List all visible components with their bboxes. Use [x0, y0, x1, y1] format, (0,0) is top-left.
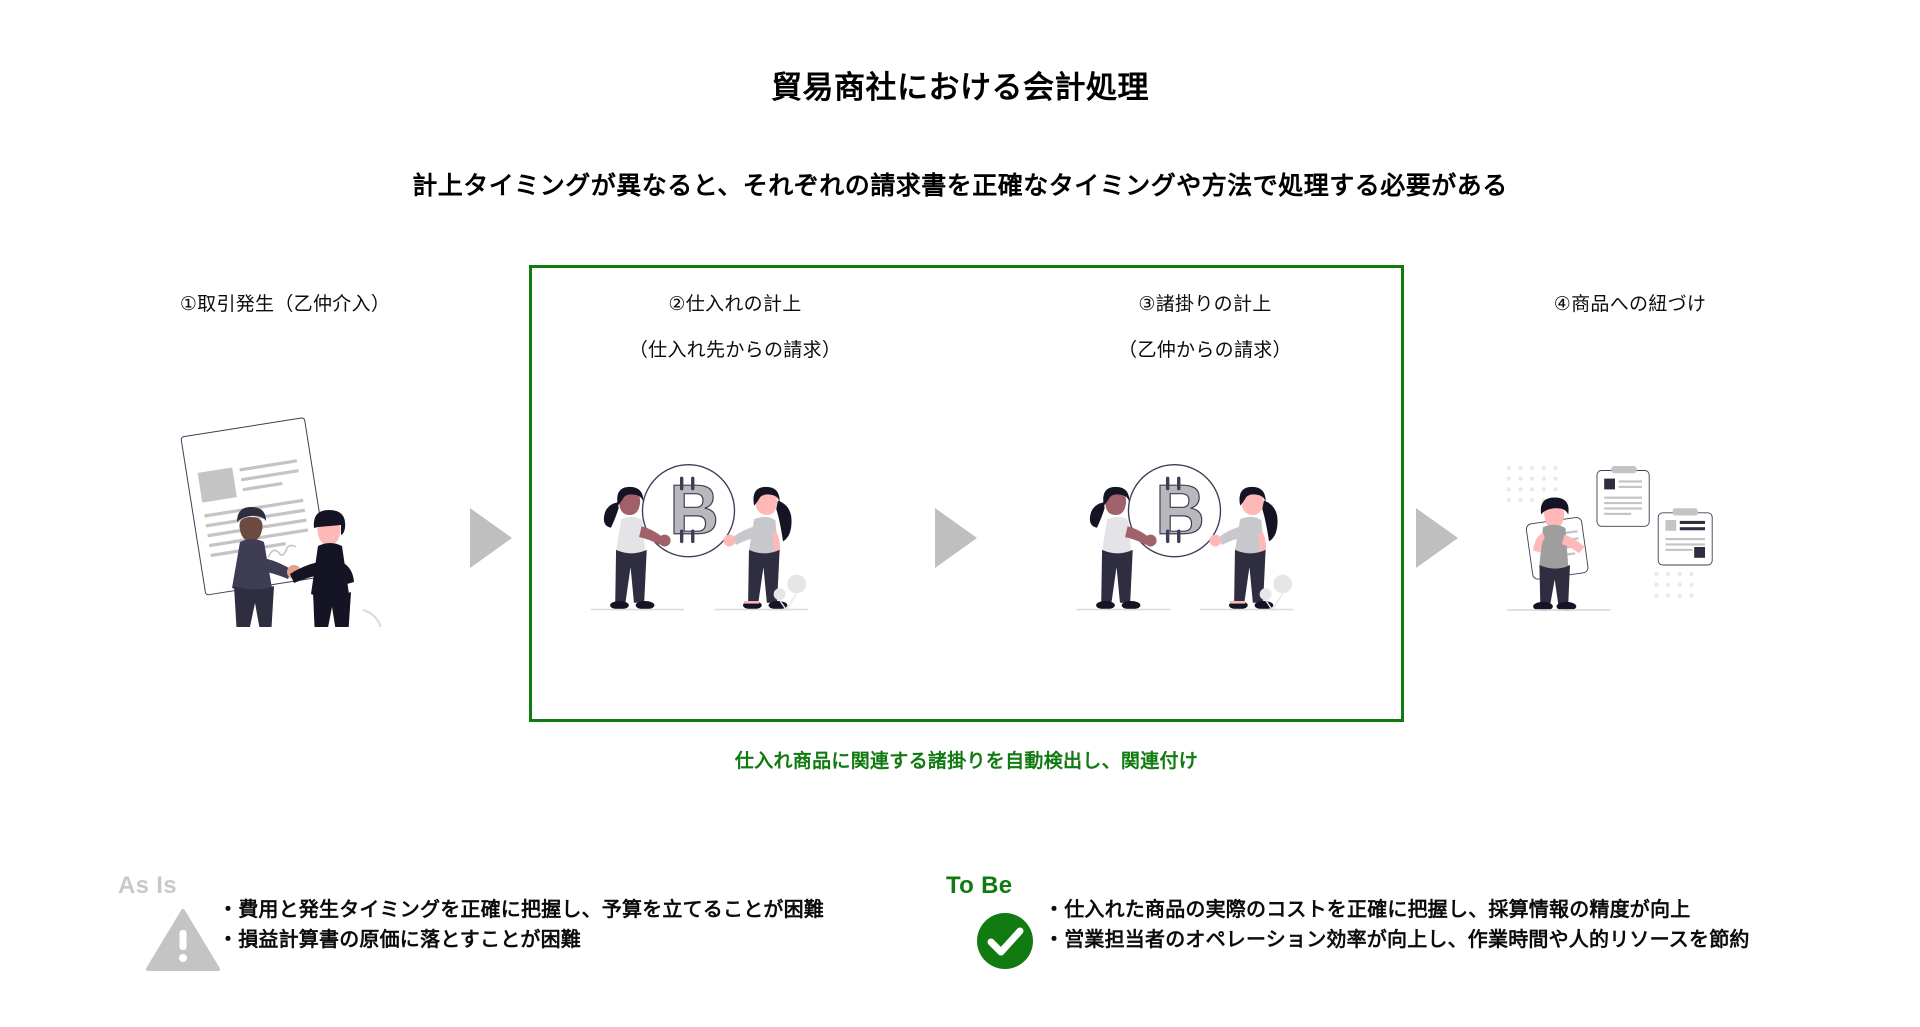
arrow-right-icon-2: [935, 508, 977, 568]
flow-step-3-sublabel: （乙仲からの請求）: [1035, 335, 1375, 362]
document-organizing-illustration: [1498, 448, 1723, 633]
flow-step-2: ②仕入れの計上 （仕入れ先からの請求）: [565, 295, 905, 362]
contract-handshake-illustration: [168, 412, 398, 632]
to-be-bullet-list: ・仕入れた商品の実際のコストを正確に把握し、採算情報の精度が向上 ・営業担当者の…: [1044, 896, 1750, 955]
as-is-bullet-1: ・費用と発生タイミングを正確に把握し、予算を立てることが困難: [218, 896, 824, 926]
arrow-right-icon-3: [1416, 508, 1458, 568]
bitcoin-payment-illustration: [582, 448, 812, 633]
page-title: 貿易商社における会計処理: [0, 62, 1920, 107]
arrow-right-icon-1: [470, 508, 512, 568]
flow-step-4: ④商品への紐づけ: [1460, 295, 1800, 314]
as-is-bullet-list: ・費用と発生タイミングを正確に把握し、予算を立てることが困難 ・損益計算書の原価…: [218, 896, 824, 955]
to-be-bullet-1: ・仕入れた商品の実際のコストを正確に把握し、採算情報の精度が向上: [1044, 896, 1750, 926]
flow-step-3: ③諸掛りの計上 （乙仲からの請求）: [1035, 295, 1375, 362]
highlight-caption: 仕入れ商品に関連する諸掛りを自動検出し、関連付け: [529, 746, 1404, 773]
flow-step-2-sublabel: （仕入れ先からの請求）: [565, 335, 905, 362]
flow-step-1: ①取引発生（乙仲介入）: [115, 295, 455, 314]
page-subtitle: 計上タイミングが異なると、それぞれの請求書を正確なタイミングや方法で処理する必要…: [0, 166, 1920, 202]
flow-step-3-label: ③諸掛りの計上: [1035, 295, 1375, 314]
bitcoin-payment-illustration-2: [1068, 448, 1298, 633]
flow-step-4-label: ④商品への紐づけ: [1460, 295, 1800, 314]
to-be-bullet-2: ・営業担当者のオペレーション効率が向上し、作業時間や人的リソースを節約: [1044, 926, 1750, 956]
slide-canvas: 貿易商社における会計処理 計上タイミングが異なると、それぞれの請求書を正確なタイ…: [0, 0, 1920, 1027]
flow-step-1-label: ①取引発生（乙仲介入）: [115, 295, 455, 314]
as-is-bullet-2: ・損益計算書の原価に落とすことが困難: [218, 926, 824, 956]
flow-step-2-label: ②仕入れの計上: [565, 295, 905, 314]
